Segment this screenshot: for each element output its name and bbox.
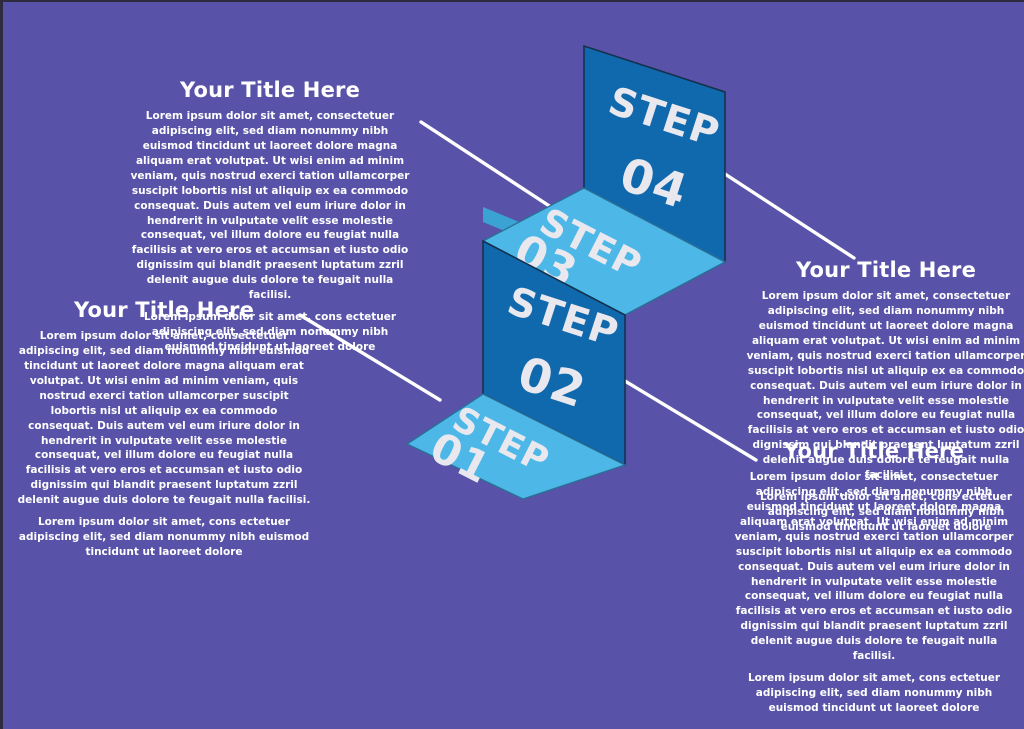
caption-bottom-left-paragraph-1: Lorem ipsum dolor sit amet, consectetuer…: [17, 329, 311, 508]
caption-top-right-title: Your Title Here: [745, 258, 1024, 283]
caption-top-left-paragraph-1: Lorem ipsum dolor sit amet, consectetuer…: [129, 109, 411, 303]
caption-bottom-left-title: Your Title Here: [17, 298, 311, 323]
infographic-canvas: STEP 04 STEP 03 STEP 02 STEP 01 Your Tit…: [0, 0, 1024, 729]
connector-line-step03: [725, 174, 854, 258]
connector-line-step04: [421, 122, 554, 209]
caption-bottom-left: Your Title Here Lorem ipsum dolor sit am…: [17, 298, 311, 560]
caption-bottom-right: Your Title Here Lorem ipsum dolor sit am…: [729, 439, 1019, 716]
caption-bottom-right-title: Your Title Here: [729, 439, 1019, 464]
caption-bottom-right-paragraph-2: Lorem ipsum dolor sit amet, cons ectetue…: [729, 671, 1019, 716]
caption-bottom-right-paragraph-1: Lorem ipsum dolor sit amet, consectetuer…: [729, 470, 1019, 664]
caption-bottom-left-paragraph-2: Lorem ipsum dolor sit amet, cons ectetue…: [17, 515, 311, 560]
caption-top-left-title: Your Title Here: [129, 78, 411, 103]
